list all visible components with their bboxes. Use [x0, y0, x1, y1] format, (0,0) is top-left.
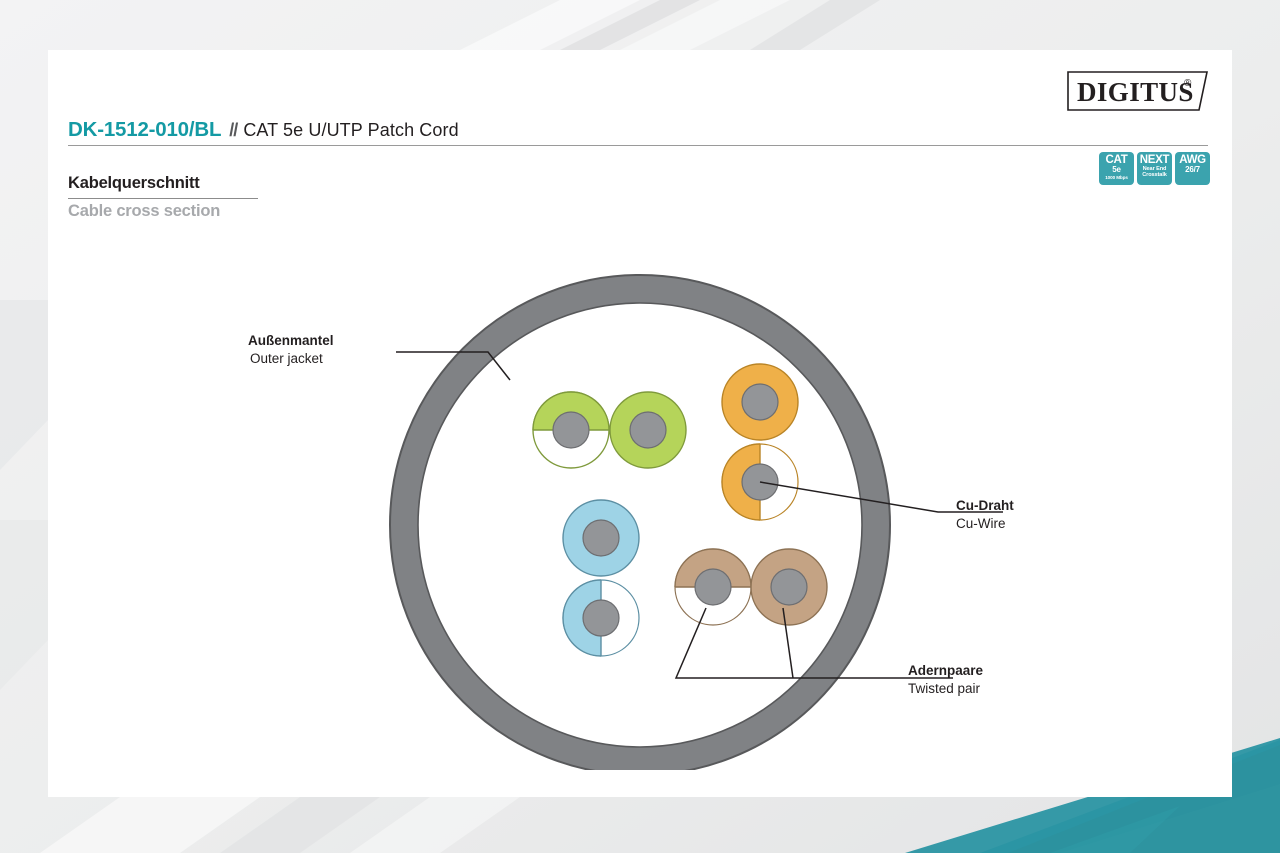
- blue-wire-solid: [563, 500, 639, 576]
- callout-outer-jacket-label-de: Außenmantel: [248, 333, 334, 348]
- blue-wire-striped: [563, 580, 639, 656]
- awg-badge-sub: 26/7: [1185, 166, 1200, 175]
- slide-page: DIGITUS ® DK-1512-010/BL//CAT 5e U/UTP P…: [0, 0, 1280, 853]
- spec-badge-group: CAT 5e 1000 Mbps NEXT Near End Crosstalk…: [1099, 152, 1210, 185]
- callout-outer-jacket-label-en: Outer jacket: [250, 351, 323, 366]
- green-wire-solid: [610, 392, 686, 468]
- digitus-logo: DIGITUS ®: [1065, 68, 1210, 114]
- next-badge-line2: Crosstalk: [1142, 172, 1167, 178]
- registered-mark-icon: ®: [1184, 78, 1192, 89]
- cat-badge-speed: 1000 Mbps: [1105, 175, 1128, 181]
- callout-cu-wire-label-en: Cu-Wire: [956, 516, 1006, 531]
- cable-cross-section-diagram: Außenmantel Outer jacket Cu-Draht Cu-Wir…: [48, 210, 1232, 770]
- callout-cu-wire-label-de: Cu-Draht: [956, 498, 1014, 513]
- cat-badge-sub: 5e: [1112, 166, 1121, 175]
- callout-twisted-pair-label-de: Adernpaare: [908, 663, 984, 678]
- outer-jacket: [390, 275, 890, 770]
- section-heading-divider: [68, 198, 258, 199]
- section-heading-de: Kabelquerschnitt: [68, 174, 200, 193]
- digitus-logo-text: DIGITUS: [1077, 77, 1194, 107]
- green-wire-striped: [533, 392, 609, 468]
- brown-wire-striped: [675, 549, 751, 625]
- callout-twisted-pair-label-en: Twisted pair: [908, 681, 981, 696]
- product-description: CAT 5e U/UTP Patch Cord: [243, 120, 458, 140]
- next-badge-main: NEXT: [1140, 154, 1169, 166]
- next-badge: NEXT Near End Crosstalk: [1137, 152, 1172, 185]
- title-separator: //: [229, 120, 237, 140]
- awg-badge: AWG 26/7: [1175, 152, 1210, 185]
- title-divider: [68, 145, 1208, 146]
- cat-badge: CAT 5e 1000 Mbps: [1099, 152, 1134, 185]
- orange-wire-solid: [722, 364, 798, 440]
- brown-wire-solid: [751, 549, 827, 625]
- content-card: DIGITUS ® DK-1512-010/BL//CAT 5e U/UTP P…: [48, 50, 1232, 797]
- product-sku: DK-1512-010/BL: [68, 118, 221, 141]
- product-title-row: DK-1512-010/BL//CAT 5e U/UTP Patch Cord: [68, 118, 1208, 152]
